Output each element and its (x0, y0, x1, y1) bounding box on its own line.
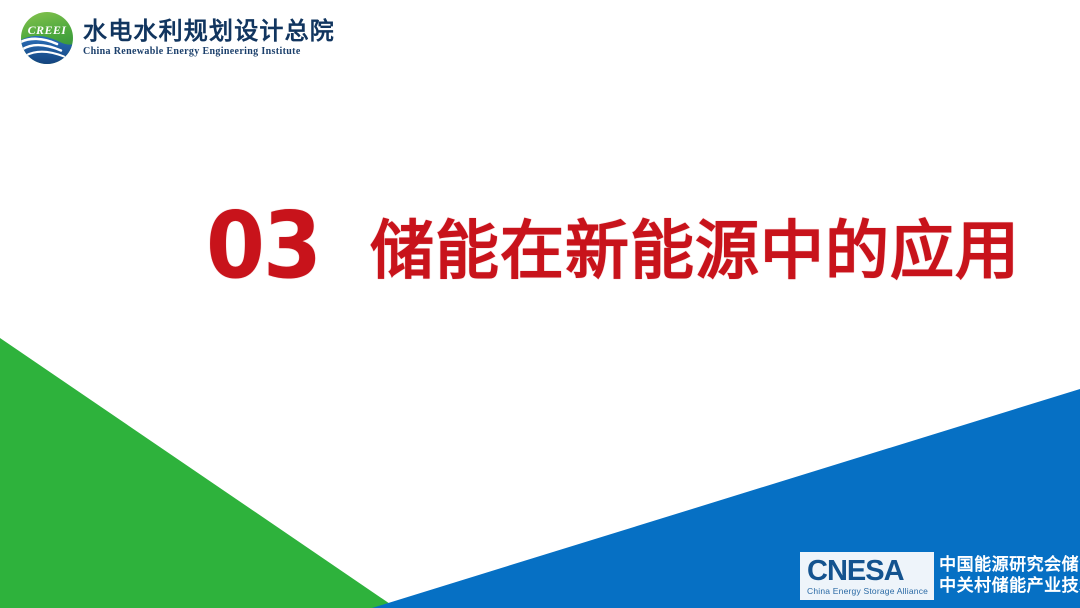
section-title-row: 03 储能在新能源中的应用 (206, 208, 1020, 283)
institute-name-en: China Renewable Energy Engineering Insti… (83, 47, 335, 57)
creei-wordmark: CREEI (28, 23, 68, 37)
section-number: 03 (206, 208, 320, 283)
decorative-corner-shapes (0, 0, 1080, 608)
presentation-slide: CREEI 水电水利规划设计总院 China Renewable Energy … (0, 0, 1080, 608)
creei-logo-icon: CREEI (20, 11, 74, 65)
cnesa-logo: CNESA China Energy Storage Alliance 中国能源… (800, 552, 1080, 600)
cnesa-tagline: China Energy Storage Alliance (807, 587, 928, 596)
cnesa-cn-line-1: 中国能源研究会储能专委会 (939, 557, 1080, 574)
cnesa-cn-line-2: 中关村储能产业技术联盟 (939, 578, 1080, 595)
institute-name-block: 水电水利规划设计总院 China Renewable Energy Engine… (83, 19, 335, 57)
institute-logo: CREEI 水电水利规划设计总院 China Renewable Energy … (20, 11, 335, 65)
cnesa-chinese-name: 中国能源研究会储能专委会 中关村储能产业技术联盟 (939, 552, 1080, 600)
cnesa-wordmark: CNESA (807, 558, 928, 585)
institute-name-cn: 水电水利规划设计总院 (83, 19, 335, 43)
green-triangle-shape (0, 338, 396, 608)
cnesa-wordmark-box: CNESA China Energy Storage Alliance (800, 552, 934, 600)
section-title: 储能在新能源中的应用 (370, 222, 1020, 283)
